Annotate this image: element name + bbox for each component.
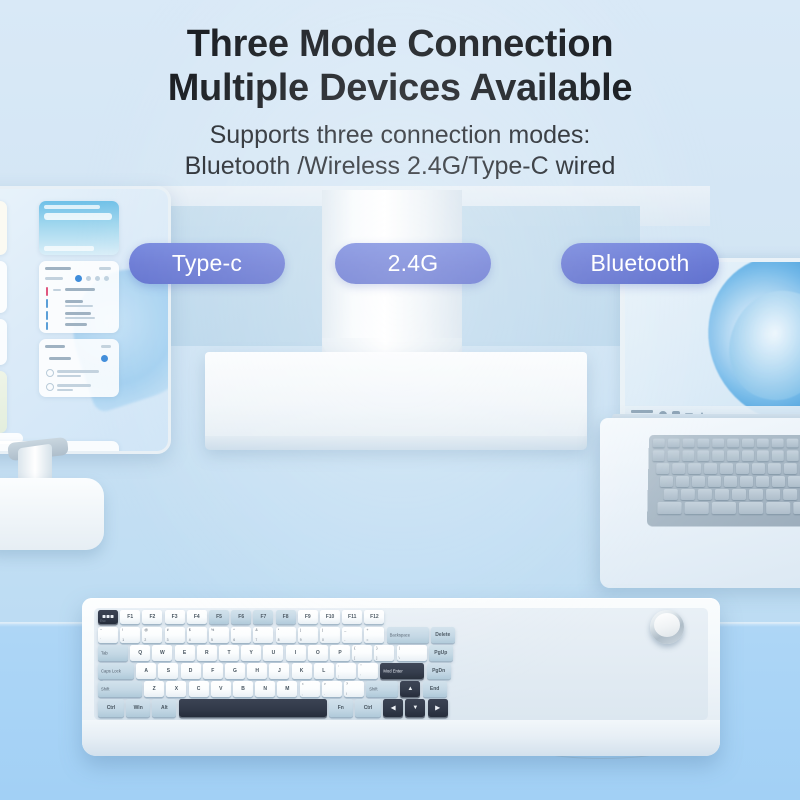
laptop-key[interactable]: [712, 450, 724, 461]
widget-calendar-card: [39, 261, 119, 333]
key-label: 0: [322, 638, 324, 642]
key-d[interactable]: D: [181, 663, 201, 679]
laptop-key[interactable]: [682, 439, 694, 448]
laptop-key[interactable]: [768, 463, 781, 474]
key-label: A: [136, 668, 156, 674]
key-tab[interactable]: Tab: [98, 645, 128, 661]
key-label: K: [292, 668, 312, 674]
key-space[interactable]: (9: [298, 627, 318, 643]
laptop-key[interactable]: [739, 502, 763, 514]
badge-bluetooth[interactable]: Bluetooth: [561, 243, 719, 284]
key-label-shifted: @: [144, 628, 160, 632]
laptop-key[interactable]: [784, 463, 797, 474]
key-space[interactable]: ~`: [98, 627, 118, 643]
laptop-key[interactable]: [724, 476, 737, 487]
subheadline-line-1: Supports three connection modes:: [0, 120, 800, 151]
key-label-shifted: %: [211, 628, 227, 632]
esc-indicator-dots: [103, 615, 114, 618]
arrow-left-icon: ◀: [383, 705, 403, 712]
laptop-key[interactable]: [708, 476, 721, 487]
key-label: S: [158, 668, 178, 674]
laptop-key[interactable]: [698, 489, 712, 500]
key-label: B: [233, 686, 253, 692]
laptop-key[interactable]: [756, 476, 769, 487]
laptop-key[interactable]: [656, 463, 669, 474]
widget-weather-card: [0, 261, 7, 313]
laptop-key[interactable]: [668, 439, 680, 448]
headline-line-1: Three Mode Connection: [0, 22, 800, 66]
key-label: F8: [276, 614, 296, 620]
key-label: G: [225, 668, 245, 674]
key-label: I: [286, 650, 306, 656]
key-label: Tab: [101, 651, 108, 656]
key-l[interactable]: L: [314, 663, 334, 679]
key-esc[interactable]: Esc: [98, 610, 118, 624]
key-label: X: [166, 686, 186, 692]
key-label: ;: [338, 674, 339, 678]
key-label-shifted: |: [399, 646, 425, 650]
key-space[interactable]: }]: [374, 645, 394, 661]
key-ctrl[interactable]: Ctrl: [98, 699, 124, 717]
key-label: 1: [122, 638, 124, 642]
key-label: J: [269, 668, 289, 674]
key-label: F3: [165, 614, 185, 620]
mechanical-keyboard: EscF1F2F3F4F5F6F7F8F9F10F11F12~`!1@2#3$4…: [82, 598, 720, 756]
key-label: E: [175, 650, 195, 656]
key-u[interactable]: U: [263, 645, 283, 661]
laptop-key[interactable]: [766, 489, 780, 500]
key-label: PgDn: [427, 668, 451, 674]
key-v[interactable]: V: [211, 681, 231, 697]
key-label: End: [423, 686, 447, 692]
key-y[interactable]: Y: [241, 645, 261, 661]
key-label-shifted: ~: [100, 628, 116, 632]
key-label: -: [344, 638, 345, 642]
key-label: Shift: [369, 687, 377, 692]
key-label: 6: [233, 638, 235, 642]
key-label: Backspace: [390, 633, 410, 638]
key-f12[interactable]: F12: [364, 610, 384, 624]
key-j[interactable]: J: [269, 663, 289, 679]
key-space[interactable]: |\: [397, 645, 427, 661]
key-label: Z: [144, 686, 164, 692]
key-label: U: [263, 650, 283, 656]
laptop-key[interactable]: [660, 476, 673, 487]
arrow-down-icon: ▼: [405, 705, 425, 711]
widget-todo-card: [39, 339, 119, 397]
key-shift[interactable]: Shift: [366, 681, 398, 697]
key-h[interactable]: H: [247, 663, 267, 679]
key-label: H: [247, 668, 267, 674]
key-label-shifted: &: [255, 628, 271, 632]
key-f3[interactable]: F3: [165, 610, 185, 624]
key-label: F5: [209, 614, 229, 620]
key-alt[interactable]: Alt: [152, 699, 176, 717]
key-label: F9: [298, 614, 318, 620]
key-label-shifted: }: [376, 646, 392, 650]
monitor-base: [205, 352, 587, 448]
key-r[interactable]: R: [197, 645, 217, 661]
laptop-key[interactable]: [757, 439, 769, 448]
key-label: O: [308, 650, 328, 656]
key-space[interactable]: ?/: [344, 681, 364, 697]
key-space[interactable]: !1: [120, 627, 140, 643]
key-label-shifted: $: [189, 628, 205, 632]
key-label: 5: [211, 638, 213, 642]
key-label: 9: [300, 638, 302, 642]
key-label: Win: [126, 705, 150, 711]
key-label: 3: [167, 638, 169, 642]
key-space[interactable]: :;: [336, 663, 356, 679]
arrow-up-icon: ▲: [400, 686, 420, 692]
key-m[interactable]: M: [277, 681, 297, 697]
key-up[interactable]: ▲: [400, 681, 420, 697]
page-subtitle: Supports three connection modes: Bluetoo…: [0, 120, 800, 182]
badge-24g[interactable]: 2.4G: [335, 243, 491, 284]
laptop-key[interactable]: [712, 502, 736, 514]
key-label-shifted: #: [167, 628, 183, 632]
key-label: Mod Enter: [383, 669, 402, 674]
key-label-shifted: ?: [346, 682, 362, 686]
key-label: 7: [255, 638, 257, 642]
badge-bluetooth-label: Bluetooth: [591, 250, 690, 277]
key-backspace[interactable]: Backspace: [387, 627, 429, 643]
key-space[interactable]: @2: [142, 627, 162, 643]
key-label: T: [219, 650, 239, 656]
key-space[interactable]: )0: [320, 627, 340, 643]
key-label-shifted: ": [360, 664, 376, 668]
key-a[interactable]: A: [136, 663, 156, 679]
key-label-shifted: >: [324, 682, 340, 686]
widget-photo-card: [39, 201, 119, 255]
laptop-key[interactable]: [787, 439, 799, 448]
laptop-key[interactable]: [740, 476, 753, 487]
key-label-shifted: {: [354, 646, 370, 650]
key-f6[interactable]: F6: [231, 610, 251, 624]
key-label: ]: [376, 656, 377, 660]
key-label: Ctrl: [98, 705, 124, 711]
key-shift[interactable]: Shift: [98, 681, 142, 697]
laptop-key[interactable]: [712, 439, 724, 448]
laptop-key[interactable]: [788, 476, 800, 487]
tablet-device: [0, 186, 171, 454]
key-label: L: [314, 668, 334, 674]
key-label-shifted: _: [344, 628, 360, 632]
key-label: F: [203, 668, 223, 674]
key-label: Esc: [100, 619, 106, 623]
tablet-stand-base: [0, 478, 104, 550]
laptop-key[interactable]: [736, 463, 749, 474]
laptop-key[interactable]: [697, 439, 709, 448]
key-label: 2: [144, 638, 146, 642]
key-space[interactable]: %5: [209, 627, 229, 643]
laptop-key[interactable]: [697, 450, 709, 461]
key-label: V: [211, 686, 231, 692]
keyboard-case-front: [82, 720, 720, 756]
key-label: Q: [130, 650, 150, 656]
key-space[interactable]: >.: [322, 681, 342, 697]
laptop-key[interactable]: [727, 450, 739, 461]
key-f11[interactable]: F11: [342, 610, 362, 624]
key-b[interactable]: B: [233, 681, 253, 697]
key-g[interactable]: G: [225, 663, 245, 679]
key-win[interactable]: Win: [126, 699, 150, 717]
laptop-key[interactable]: [682, 450, 694, 461]
key-n[interactable]: N: [255, 681, 275, 697]
laptop-keyboard: [647, 435, 800, 527]
key-label: D: [181, 668, 201, 674]
laptop-key[interactable]: [727, 439, 739, 448]
key-label: C: [189, 686, 209, 692]
laptop-key[interactable]: [772, 476, 785, 487]
laptop-key[interactable]: [664, 489, 678, 500]
key-label: Ctrl: [355, 705, 381, 711]
key-f2[interactable]: F2: [142, 610, 162, 624]
badge-type-c[interactable]: Type-c: [129, 243, 285, 284]
key-label: W: [152, 650, 172, 656]
badge-type-c-label: Type-c: [172, 250, 242, 277]
key-label: Shift: [101, 687, 109, 692]
key-z[interactable]: Z: [144, 681, 164, 697]
key-x[interactable]: X: [166, 681, 186, 697]
keyboard-plate: EscF1F2F3F4F5F6F7F8F9F10F11F12~`!1@2#3$4…: [94, 608, 708, 720]
key-label: 8: [278, 638, 280, 642]
key-label: [: [354, 656, 355, 660]
key-f4[interactable]: F4: [187, 610, 207, 624]
laptop-key[interactable]: [652, 450, 664, 461]
key-label: Y: [241, 650, 261, 656]
key-label: Alt: [152, 705, 176, 711]
key-label: 4: [189, 638, 191, 642]
key-label-shifted: !: [122, 628, 138, 632]
key-f7[interactable]: F7: [253, 610, 273, 624]
key-label-shifted: :: [338, 664, 354, 668]
laptop-key[interactable]: [676, 476, 689, 487]
widget-image-card: [0, 371, 7, 433]
key-label: P: [330, 650, 350, 656]
key-c[interactable]: C: [189, 681, 209, 697]
key-space[interactable]: ^6: [231, 627, 251, 643]
badge-24g-label: 2.4G: [388, 250, 439, 277]
laptop-key[interactable]: [692, 476, 705, 487]
key-label-shifted: ^: [233, 628, 249, 632]
key-w[interactable]: W: [152, 645, 172, 661]
laptop-key[interactable]: [704, 463, 717, 474]
key-p[interactable]: P: [330, 645, 350, 661]
laptop-key[interactable]: [749, 489, 763, 500]
key-label-shifted: ): [322, 628, 338, 632]
laptop-key[interactable]: [742, 450, 754, 461]
key-label: R: [197, 650, 217, 656]
widget-small-card: [0, 319, 7, 365]
key-label: F10: [320, 614, 340, 620]
key-k[interactable]: K: [292, 663, 312, 679]
monitor-base-front-edge: [205, 436, 587, 450]
key-i[interactable]: I: [286, 645, 306, 661]
key-label: N: [255, 686, 275, 692]
key-space[interactable]: $4: [187, 627, 207, 643]
key-space[interactable]: {[: [352, 645, 372, 661]
key-pgdn[interactable]: PgDn: [427, 663, 451, 679]
key-space[interactable]: "': [358, 663, 378, 679]
key-o[interactable]: O: [308, 645, 328, 661]
key-space[interactable]: *8: [276, 627, 296, 643]
laptop-key[interactable]: [681, 489, 695, 500]
key-label-shifted: <: [302, 682, 318, 686]
key-label: M: [277, 686, 297, 692]
laptop-key[interactable]: [720, 463, 733, 474]
key-label: F12: [364, 614, 384, 620]
page-title: Three Mode Connection Multiple Devices A…: [0, 22, 800, 110]
laptop-key[interactable]: [766, 502, 790, 514]
key-delete[interactable]: Delete: [431, 627, 455, 643]
key-space[interactable]: [179, 699, 327, 717]
key-ctrl[interactable]: Ctrl: [355, 699, 381, 717]
laptop-key[interactable]: [783, 489, 797, 500]
key-s[interactable]: S: [158, 663, 178, 679]
key-label: PgUp: [429, 650, 453, 656]
key-label: F6: [231, 614, 251, 620]
laptop-key[interactable]: [653, 439, 665, 448]
key-fn[interactable]: Fn: [329, 699, 353, 717]
key-mod-enter[interactable]: Mod Enter: [380, 663, 424, 679]
key-label: F1: [120, 614, 140, 620]
key-space[interactable]: +=: [364, 627, 384, 643]
laptop-key[interactable]: [787, 450, 799, 461]
laptop-key[interactable]: [742, 439, 754, 448]
key-f[interactable]: F: [203, 663, 223, 679]
key-caps-lock[interactable]: Caps Lock: [98, 663, 134, 679]
key-down[interactable]: ▼: [405, 699, 425, 717]
key-label-shifted: (: [300, 628, 316, 632]
key-label: Delete: [431, 632, 455, 638]
key-label: `: [100, 638, 101, 642]
key-f5[interactable]: F5: [209, 610, 229, 624]
key-label-shifted: *: [278, 628, 294, 632]
laptop-key[interactable]: [793, 502, 800, 514]
key-label-shifted: +: [366, 628, 382, 632]
key-f10[interactable]: F10: [320, 610, 340, 624]
key-f8[interactable]: F8: [276, 610, 296, 624]
key-pgup[interactable]: PgUp: [429, 645, 453, 661]
key-label: .: [324, 692, 325, 696]
key-label: F4: [187, 614, 207, 620]
key-q[interactable]: Q: [130, 645, 150, 661]
key-f1[interactable]: F1: [120, 610, 140, 624]
key-label: Fn: [329, 705, 353, 711]
laptop-key[interactable]: [685, 502, 709, 514]
key-label: \: [399, 656, 400, 660]
laptop-key[interactable]: [752, 463, 765, 474]
laptop-key[interactable]: [772, 439, 784, 448]
volume-knob[interactable]: [650, 610, 684, 644]
laptop-key[interactable]: [672, 463, 685, 474]
laptop-key[interactable]: [715, 489, 729, 500]
arrow-right-icon: ▶: [428, 705, 448, 712]
key-label: F11: [342, 614, 362, 620]
key-label: F7: [253, 614, 273, 620]
key-label: /: [346, 692, 347, 696]
key-space[interactable]: &7: [253, 627, 273, 643]
subheadline-line-2: Bluetooth /Wireless 2.4G/Type-C wired: [0, 151, 800, 182]
key-label: ,: [302, 692, 303, 696]
laptop-key[interactable]: [732, 489, 746, 500]
key-space[interactable]: _-: [342, 627, 362, 643]
headline-line-2: Multiple Devices Available: [0, 66, 800, 110]
volume-knob-top: [654, 613, 680, 637]
key-label: Caps Lock: [101, 669, 121, 674]
laptop-key[interactable]: [772, 450, 784, 461]
product-marketing-image: Three Mode Connection Multiple Devices A…: [0, 0, 800, 800]
key-f9[interactable]: F9: [298, 610, 318, 624]
key-space[interactable]: <,: [300, 681, 320, 697]
laptop-key[interactable]: [757, 450, 769, 461]
key-space[interactable]: #3: [165, 627, 185, 643]
laptop-key[interactable]: [667, 450, 679, 461]
key-end[interactable]: End: [423, 681, 447, 697]
laptop-key[interactable]: [688, 463, 701, 474]
key-right[interactable]: ▶: [428, 699, 448, 717]
key-e[interactable]: E: [175, 645, 195, 661]
laptop-key[interactable]: [657, 502, 681, 514]
key-t[interactable]: T: [219, 645, 239, 661]
widget-note-card: [0, 201, 7, 255]
key-label: ': [360, 674, 361, 678]
key-label: =: [366, 638, 368, 642]
key-left[interactable]: ◀: [383, 699, 403, 717]
key-label: F2: [142, 614, 162, 620]
